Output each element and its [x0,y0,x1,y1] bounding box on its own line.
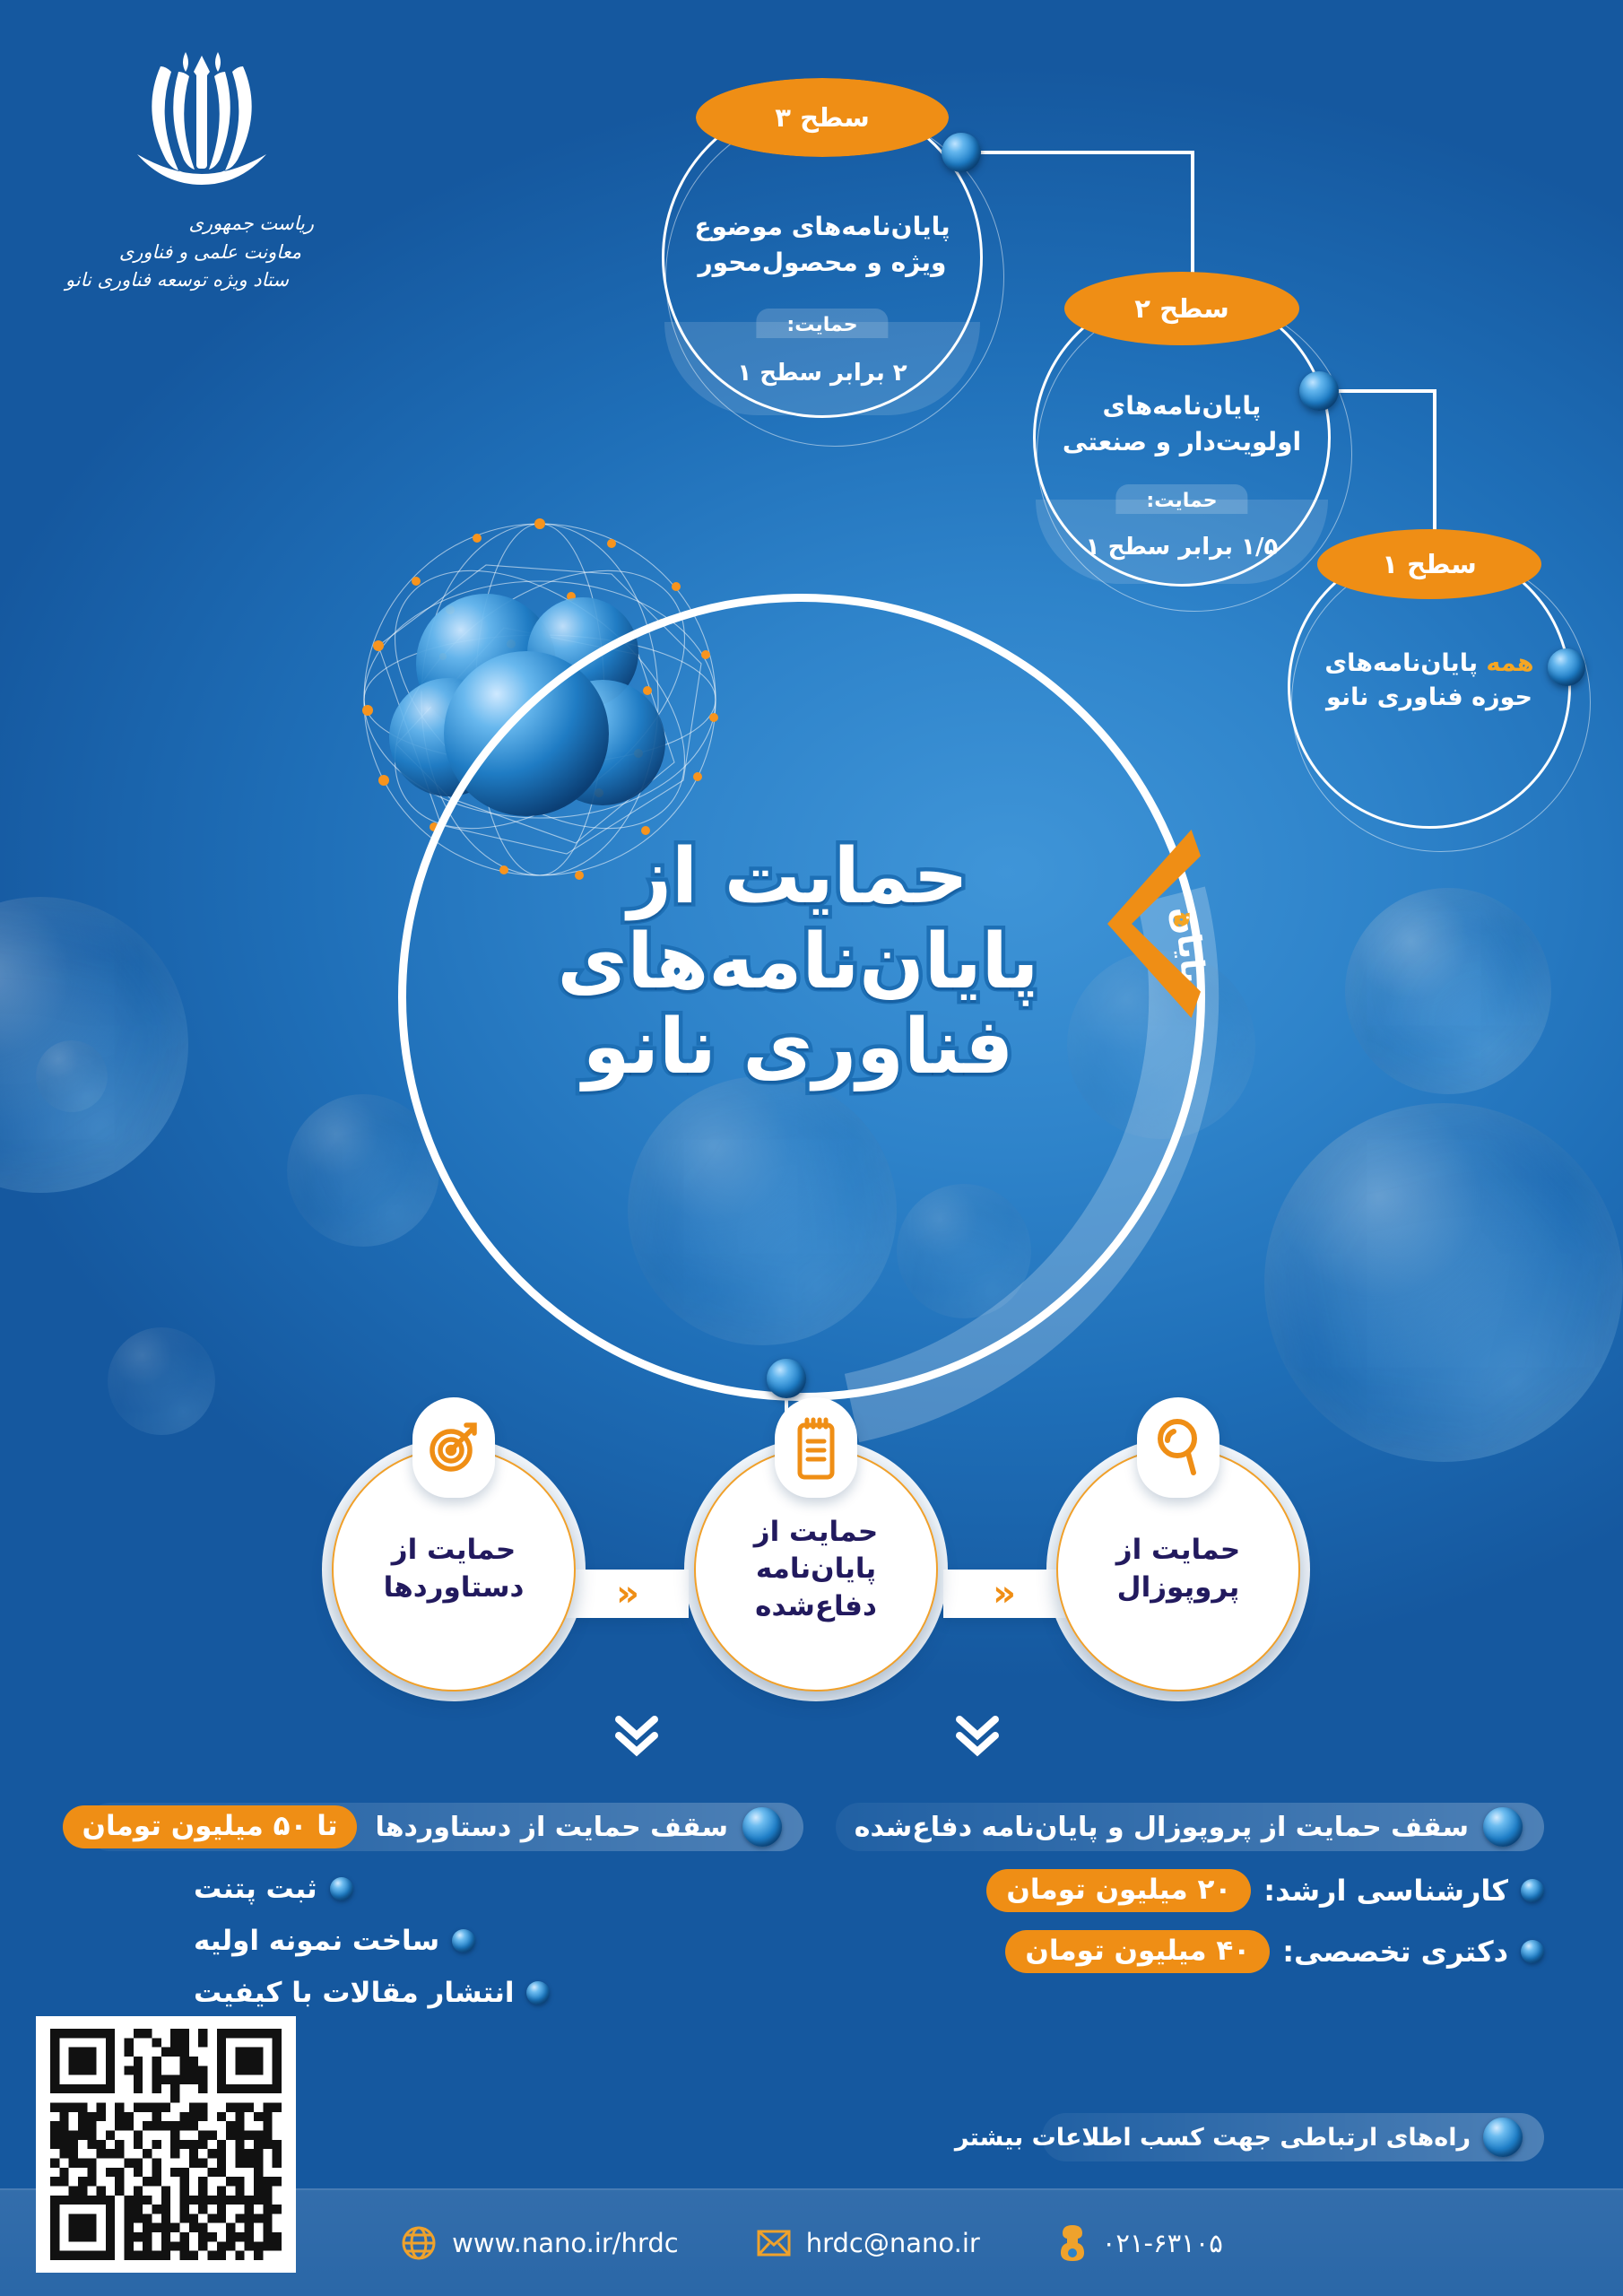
level-3-title: پایان‌نامه‌های موضوع ویژه و محصول‌محور [664,209,980,281]
footer-website[interactable]: www.nano.ir/hrdc [400,2224,679,2262]
clipboard-icon [775,1397,857,1498]
support-row-phd-label: دکتری تخصصی: [1282,1935,1508,1969]
connector-chevron-icon: « [993,1576,1016,1612]
footer-contact-header-text: راه‌های ارتباطی جهت کسب اطلاعات بیشتر [955,2124,1471,2152]
bullet-sphere-icon [742,1807,782,1847]
connector-chevron-icon: « [616,1576,639,1612]
phone-icon [1057,2223,1088,2263]
level-2-badge: سطح ۲ [1064,272,1299,345]
chevron-double-down-icon [610,1709,664,1759]
logo-line-1: ریاست جمهوری [61,210,321,239]
qr-code[interactable] [36,2016,296,2273]
process-step-proposal[interactable]: حمایت از پروپوزال [1056,1448,1300,1692]
bubble-decoration [108,1327,215,1435]
globe-icon [400,2224,438,2262]
level-2-support-value: ۱/۵ برابر سطح ۱ [1036,534,1328,561]
bullet-sphere-icon [1521,1879,1544,1902]
level-1-node-sphere [1548,648,1585,686]
support-achievements-amount: تا ۵۰ میلیون تومان [63,1805,358,1848]
support-proposal-header: سقف حمایت از پروپوزال و پایان‌نامه دفاع‌… [836,1803,1544,1851]
support-row-masters-label: کارشناسی ارشد: [1263,1874,1508,1908]
support-row-phd: دکتری تخصصی: ۴۰ میلیون تومان [836,1930,1544,1973]
footer-contact-header: راه‌های ارتباطی جهت کسب اطلاعات بیشتر [1042,2113,1544,2161]
level-3-support-value: ۲ برابر سطح ۱ [664,360,980,387]
achievement-item-label: ساخت نمونه اولیه [194,1925,439,1957]
support-row-masters-amount: ۲۰ میلیون تومان [986,1869,1251,1912]
title-line-2: پایان‌نامه‌های [502,919,1094,1004]
iran-national-emblem-icon [121,36,282,206]
bubble-decoration [0,897,188,1193]
achievement-item: ثبت پتنت [86,1873,803,1905]
center-node-sphere [767,1359,806,1398]
process-flow: « « حمایت از پروپوزال ح [332,1435,1300,1704]
level-1-badge: سطح ۱ [1317,529,1541,599]
target-icon [412,1397,495,1498]
footer-website-text: www.nano.ir/hrdc [452,2228,679,2258]
level-1-circle[interactable]: سطح ۱ همه پایان‌نامه‌های حوزه فناوری نان… [1288,545,1571,829]
achievement-item-label: انتشار مقالات با کیفیت [194,1977,514,2009]
bubble-decoration [1345,888,1551,1094]
bullet-sphere-icon [330,1877,353,1900]
bullet-sphere-icon [1483,2118,1523,2157]
footer-phone-text: ۰۲۱-۶۳۱۰۵ [1102,2228,1223,2258]
qr-code-image [48,2029,283,2260]
process-step-defended-thesis-label: حمایت از پایان‌نامه دفاع‌شده [696,1514,936,1626]
page-title: حمایت از پایان‌نامه‌های فناوری نانو [502,834,1094,1091]
level-3-node-sphere [942,133,981,172]
level-2-title: پایان‌نامه‌های اولویت‌دار و صنعتی [1036,388,1328,460]
level-1-title: همه پایان‌نامه‌های حوزه فناوری نانو [1290,647,1568,716]
bullet-sphere-icon [526,1981,550,2005]
level-3-badge: سطح ۳ [696,78,949,157]
support-achievements-header: سقف حمایت از دستاوردها تا ۵۰ میلیون توما… [86,1803,803,1851]
organization-logo: ریاست جمهوری معاونت علمی و فناوری ستاد و… [72,36,332,295]
process-step-proposal-label: حمایت از پروپوزال [1058,1532,1298,1606]
poster-root: ریاست جمهوری معاونت علمی و فناوری ستاد و… [0,0,1623,2296]
title-line-3: فناوری نانو [502,1004,1094,1090]
magnifier-icon [1137,1397,1219,1498]
level-1-title-highlight: همه [1486,649,1533,677]
bullet-sphere-icon [1521,1940,1544,1963]
bullet-sphere-icon [452,1929,475,1952]
level-3-support-label: حمایت: [756,309,888,338]
logo-line-2: معاونت علمی و فناوری [48,239,308,267]
footer-email-text: hrdc@nano.ir [806,2228,980,2258]
support-achievements-block: سقف حمایت از دستاوردها تا ۵۰ میلیون توما… [86,1803,803,2009]
footer-phone[interactable]: ۰۲۱-۶۳۱۰۵ [1057,2223,1223,2263]
envelope-icon [756,2228,792,2258]
support-achievements-header-text: سقف حمایت از دستاوردها [375,1812,728,1843]
support-row-masters: کارشناسی ارشد: ۲۰ میلیون تومان [836,1869,1544,1912]
achievement-item: انتشار مقالات با کیفیت [86,1977,803,2009]
chevron-double-down-icon [950,1709,1004,1759]
process-step-achievements-label: حمایت از دستاوردها [334,1532,574,1606]
bubble-decoration [1264,1103,1623,1462]
process-step-defended-thesis[interactable]: حمایت از پایان‌نامه دفاع‌شده [694,1448,938,1692]
bubble-decoration [36,1040,108,1112]
level-3-circle[interactable]: سطح ۳ پایان‌نامه‌های موضوع ویژه و محصول‌… [662,97,983,418]
support-proposal-block: سقف حمایت از پروپوزال و پایان‌نامه دفاع‌… [836,1803,1544,1973]
level-2-support-label: حمایت: [1115,484,1247,514]
level-2-node-sphere [1299,371,1339,411]
title-line-1: حمایت از [502,834,1094,919]
process-connector-1: « [943,1570,1065,1618]
logo-line-3: ستاد ویژه توسعه فناوری نانو [36,266,296,295]
achievement-item-label: ثبت پتنت [194,1873,317,1905]
bullet-sphere-icon [1483,1807,1523,1847]
support-proposal-header-text: سقف حمایت از پروپوزال و پایان‌نامه دفاع‌… [855,1812,1469,1843]
support-row-phd-amount: ۴۰ میلیون تومان [1005,1930,1270,1973]
process-connector-2: « [567,1570,689,1618]
achievement-item: ساخت نمونه اولیه [86,1925,803,1957]
level-2-circle[interactable]: سطح ۲ پایان‌نامه‌های اولویت‌دار و صنعتی … [1033,289,1331,587]
process-step-achievements[interactable]: حمایت از دستاوردها [332,1448,576,1692]
footer-email[interactable]: hrdc@nano.ir [756,2228,980,2258]
